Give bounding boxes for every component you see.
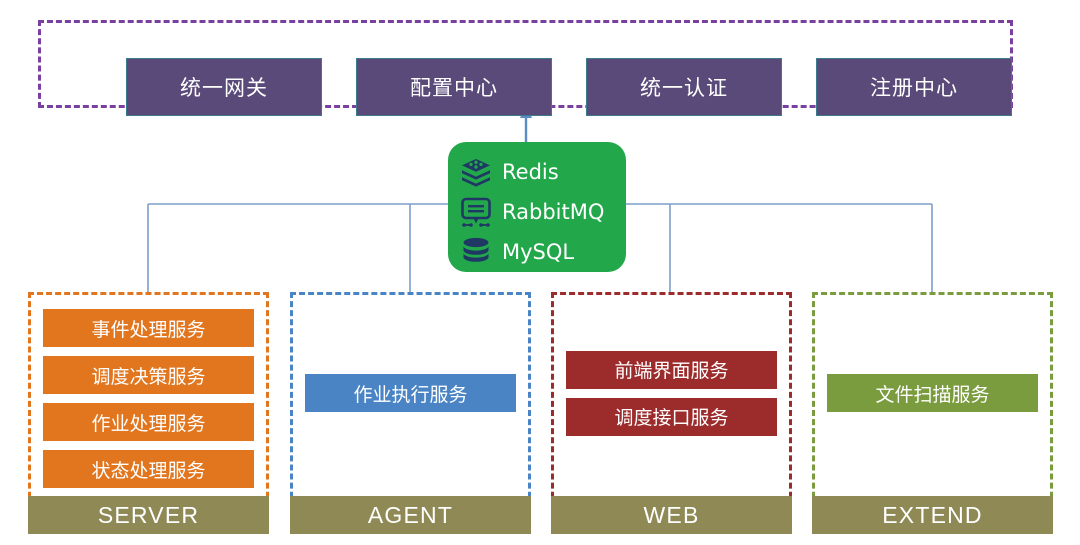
service-file-scan-label: 文件扫描服务 bbox=[875, 380, 989, 407]
service-frontend-ui[interactable]: 前端界面服务 bbox=[566, 351, 777, 389]
redis-icon bbox=[460, 156, 492, 188]
extend-service-list: 文件扫描服务 bbox=[815, 295, 1050, 491]
agent-service-list: 作业执行服务 bbox=[293, 295, 528, 491]
service-job-execution[interactable]: 作业执行服务 bbox=[305, 374, 516, 412]
platform-box-registry[interactable]: 注册中心 bbox=[816, 58, 1012, 116]
platform-box-gateway-label: 统一网关 bbox=[180, 72, 268, 102]
web-group-footer: WEB bbox=[551, 496, 792, 534]
service-status-processing[interactable]: 状态处理服务 bbox=[43, 450, 254, 488]
middleware-item-mysql-label: MySQL bbox=[502, 240, 574, 264]
service-file-scan[interactable]: 文件扫描服务 bbox=[827, 374, 1038, 412]
server-group: 事件处理服务 调度决策服务 作业处理服务 状态处理服务 SERVER bbox=[28, 292, 269, 534]
service-job-processing-label: 作业处理服务 bbox=[91, 409, 205, 436]
server-service-list: 事件处理服务 调度决策服务 作业处理服务 状态处理服务 bbox=[31, 295, 266, 491]
architecture-diagram: 统一网关 配置中心 统一认证 注册中心 bbox=[0, 0, 1080, 545]
extend-group-footer: EXTEND bbox=[812, 496, 1053, 534]
platform-box-auth-label: 统一认证 bbox=[640, 72, 728, 102]
server-group-footer: SERVER bbox=[28, 496, 269, 534]
service-event-processing-label: 事件处理服务 bbox=[91, 315, 205, 342]
platform-box-gateway[interactable]: 统一网关 bbox=[126, 58, 322, 116]
middleware-item-rabbitmq-label: RabbitMQ bbox=[502, 200, 604, 224]
service-scheduling-decision[interactable]: 调度决策服务 bbox=[43, 356, 254, 394]
agent-group-footer-label: AGENT bbox=[368, 502, 453, 529]
service-scheduling-decision-label: 调度决策服务 bbox=[91, 362, 205, 389]
platform-box-auth[interactable]: 统一认证 bbox=[586, 58, 782, 116]
platform-box-registry-label: 注册中心 bbox=[870, 72, 958, 102]
service-status-processing-label: 状态处理服务 bbox=[91, 456, 205, 483]
platform-frame: 统一网关 配置中心 统一认证 注册中心 bbox=[38, 20, 1013, 108]
extend-group-footer-label: EXTEND bbox=[882, 502, 983, 529]
middleware-item-rabbitmq[interactable]: RabbitMQ bbox=[460, 194, 626, 230]
service-scheduling-api[interactable]: 调度接口服务 bbox=[566, 398, 777, 436]
service-frontend-ui-label: 前端界面服务 bbox=[614, 356, 728, 383]
middleware-item-redis[interactable]: Redis bbox=[460, 154, 626, 190]
middleware-item-redis-label: Redis bbox=[502, 160, 559, 184]
extend-group: 文件扫描服务 EXTEND bbox=[812, 292, 1053, 534]
service-job-execution-label: 作业执行服务 bbox=[353, 380, 467, 407]
service-scheduling-api-label: 调度接口服务 bbox=[614, 403, 728, 430]
service-job-processing[interactable]: 作业处理服务 bbox=[43, 403, 254, 441]
middleware-card[interactable]: Redis RabbitMQ bbox=[448, 142, 626, 272]
web-group: 前端界面服务 调度接口服务 WEB bbox=[551, 292, 792, 534]
middleware-item-mysql[interactable]: MySQL bbox=[460, 234, 626, 270]
platform-box-config-center[interactable]: 配置中心 bbox=[356, 58, 552, 116]
web-group-footer-label: WEB bbox=[644, 502, 700, 529]
platform-box-config-center-label: 配置中心 bbox=[410, 72, 498, 102]
rabbitmq-icon bbox=[460, 196, 492, 228]
mysql-icon bbox=[460, 236, 492, 268]
server-group-footer-label: SERVER bbox=[98, 502, 199, 529]
service-event-processing[interactable]: 事件处理服务 bbox=[43, 309, 254, 347]
web-service-list: 前端界面服务 调度接口服务 bbox=[554, 295, 789, 491]
agent-group: 作业执行服务 AGENT bbox=[290, 292, 531, 534]
agent-group-footer: AGENT bbox=[290, 496, 531, 534]
